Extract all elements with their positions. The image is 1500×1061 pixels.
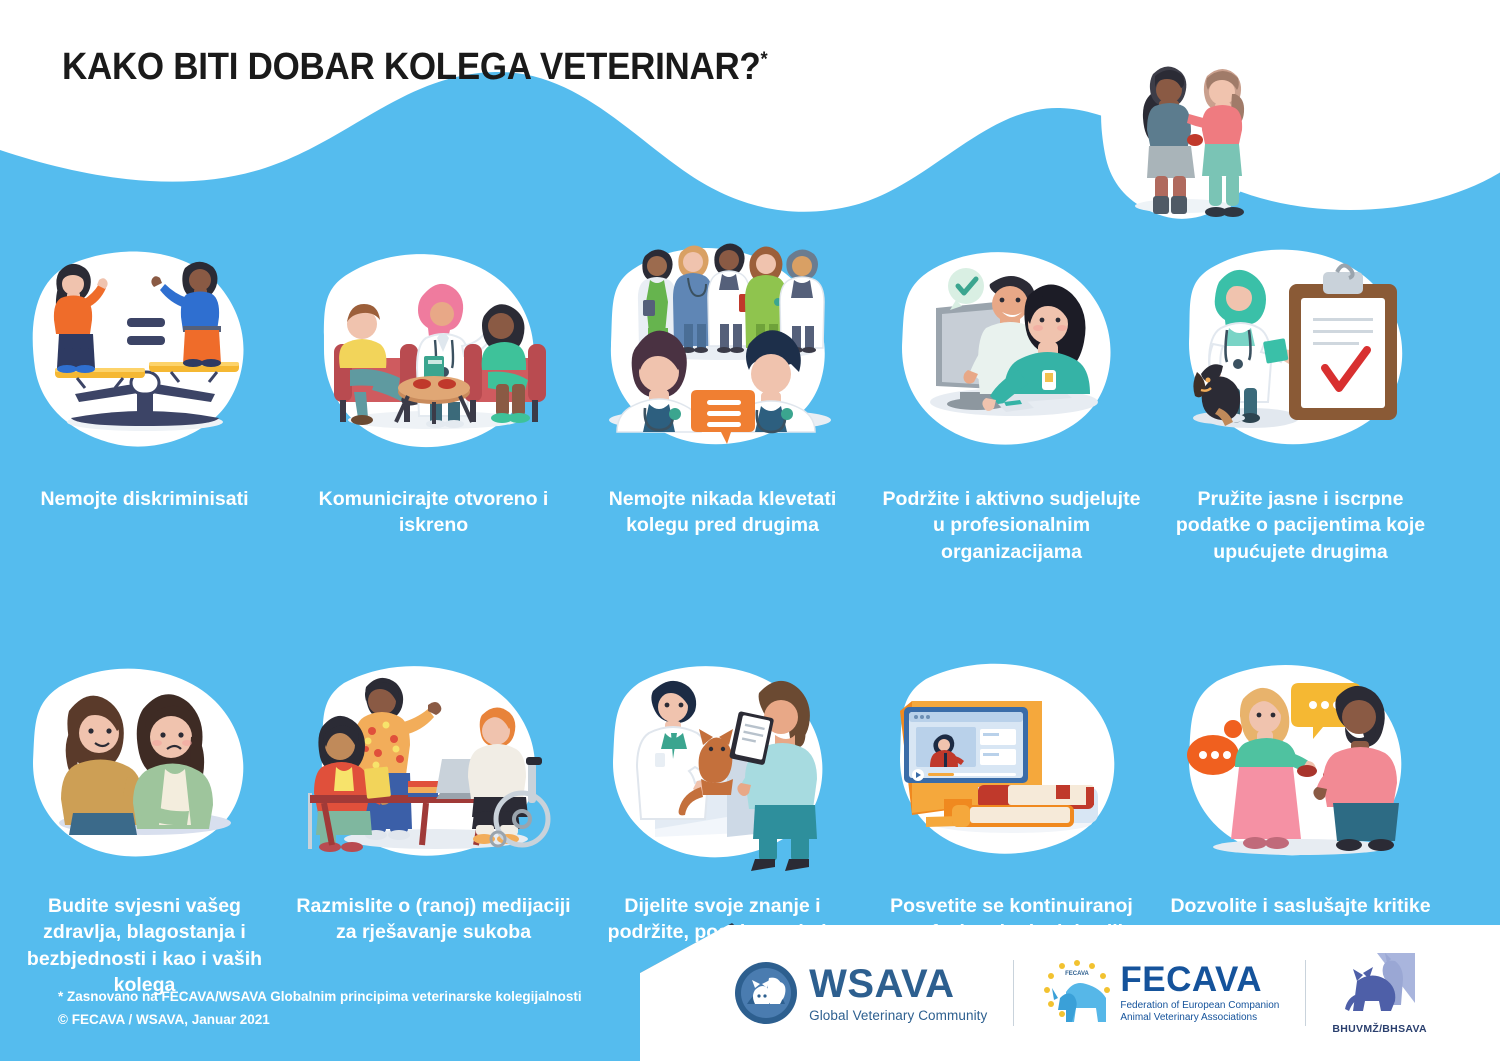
bhsava-label: BHUVMŽ/BHSAVA [1332,1023,1427,1035]
card-no-discrimination: Nemojte diskriminisati [3,232,286,565]
medical-team-speech-bubble-icon [593,232,853,472]
comforting-colleague-icon [15,653,275,883]
card-early-mediation: Razmislite o (ranoj) medijaciji za rješa… [292,653,575,998]
card-caption: Nemojte nikada klevetati kolegu pred dru… [585,486,860,539]
partner-logos: WSAVA Global Veterinary Community FECAVA… [660,925,1500,1061]
card-professional-organisations: Podržite i aktivno sudjelujte u profesio… [870,232,1153,565]
footer-note-line-2: © FECAVA / WSAVA, Januar 2021 [58,1009,582,1031]
footer-source-note: * Zasnovano na FECAVA/WSAVA Globalnim pr… [58,986,582,1031]
vet-dog-clipboard-checkmark-icon [1171,232,1431,472]
wsava-wordmark: WSAVA [809,964,987,1004]
svg-text:FECAVA: FECAVA [1065,971,1089,977]
card-never-slander: Nemojte nikada klevetati kolegu pred dru… [581,232,864,565]
bhsava-emblem-icon [1343,951,1417,1019]
footer-note-line-1: * Zasnovano na FECAVA/WSAVA Globalnim pr… [58,986,582,1008]
wsava-emblem-icon [733,960,799,1026]
card-caption: Komunicirajte otvoreno i iskreno [296,486,571,539]
logo-bhsava[interactable]: BHUVMŽ/BHSAVA [1306,951,1453,1035]
card-caption: Dozvolite i saslušajte kritike [1163,893,1438,919]
logo-fecava[interactable]: FECAVA FECAVA Federation of European Com… [1014,958,1305,1028]
card-caption: Nemojte diskriminisati [7,486,282,512]
balance-scale-equality-icon [15,232,275,472]
card-caption: Razmislite o (ranoj) medijaciji za rješa… [296,893,571,946]
card-caption: Budite svjesni vašeg zdravlja, blagostan… [7,893,282,998]
fecava-tagline: Federation of European CompanionAnimal V… [1120,1000,1279,1025]
title-asterisk: * [761,48,768,70]
fecava-emblem-icon: FECAVA [1040,958,1114,1028]
card-caption: Pružite jasne i iscrpne podatke o pacije… [1163,486,1438,565]
page-title-text: KAKO BITI DOBAR KOLEGA VETERINAR? [62,46,761,88]
principles-grid: Nemojte diskriminisati [0,232,1500,998]
fecava-wordmark: FECAVA [1120,962,1279,997]
two-colleagues-computer-checkmark-icon [882,232,1142,472]
vet-cat-examination-icon [593,653,853,883]
team-mediation-meeting-icon [304,653,564,883]
hero-illustration [1085,36,1285,236]
card-clear-patient-information: Pružite jasne i iscrpne podatke o pacije… [1159,232,1442,565]
two-people-feedback-speech-bubbles-icon [1171,653,1431,883]
card-communicate-openly: Komunicirajte otvoreno i iskreno [292,232,575,565]
elearning-monitor-books-icon [882,653,1142,883]
card-caption: Podržite i aktivno sudjelujte u profesio… [874,486,1149,565]
open-conversation-clinic-icon [304,232,564,472]
logo-wsava[interactable]: WSAVA Global Veterinary Community [707,960,1013,1026]
card-wellbeing-awareness: Budite svjesni vašeg zdravlja, blagostan… [3,653,286,998]
hero-caption: Poštujte svoje kolege [1320,92,1480,152]
page-title: KAKO BITI DOBAR KOLEGA VETERINAR?* [62,46,829,89]
wsava-tagline: Global Veterinary Community [809,1008,987,1023]
